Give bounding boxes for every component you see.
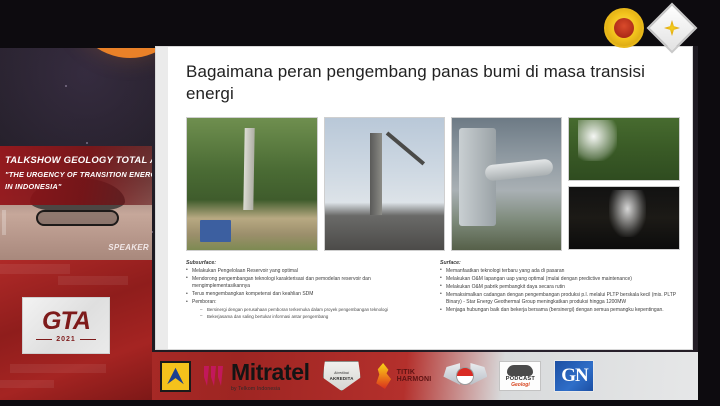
gta-logo-word: GTA [42, 309, 90, 334]
list-item: Memanfaatkan teknologi terbaru yang ada … [440, 268, 680, 276]
mitratel-sublabel: by Telkom Indonesia [231, 387, 310, 392]
photo-drilling-rig-with-crane [324, 117, 445, 251]
photo-steam-venting-daylight [568, 117, 680, 181]
list-item-label: Pemboran: [192, 299, 216, 305]
photo-stack-steam [568, 117, 680, 251]
speaker-glasses [36, 210, 118, 226]
gta-event-logo: GTA 2021 [22, 297, 110, 354]
subsurface-bullet-list: Melakukan Pengelolaan Reservoir yang opt… [186, 268, 426, 321]
list-item: Bekerjasama dan saling bertukar informas… [200, 314, 426, 321]
gold-circular-institution-emblem [604, 8, 644, 48]
flame-icon [374, 363, 393, 389]
photo-drilling-rig-in-jungle [186, 117, 318, 251]
webinar-screen: Bagaimana peran pengembang panas bumi di… [0, 0, 720, 406]
video-side-accent [2, 210, 6, 235]
slide-bullet-columns: Subsurface: Melakukan Pengelolaan Reserv… [186, 260, 680, 322]
podcast-logo: PODCAST Geologi [499, 361, 541, 391]
column-subsurface: Subsurface: Melakukan Pengelolaan Reserv… [186, 260, 426, 322]
slide-left-rail [156, 47, 168, 349]
slide-photo-strip [186, 117, 680, 251]
list-item: Melakukan O&M lapangan uap yang optimal … [440, 276, 680, 284]
podcast-line2: Geologi [511, 382, 530, 388]
titik-harmoni-logo: TITIK HARMONI [374, 363, 432, 389]
bottom-dark-band [0, 400, 720, 406]
speaker-video-tile[interactable]: TALKSHOW GEOLOGY TOTAL ACTION 20 "THE UR… [0, 146, 152, 260]
shield-bottom-text: AKREDITA [330, 376, 354, 381]
mitratel-name: Mitratel [231, 361, 310, 384]
organization-emblems [604, 8, 690, 48]
surface-heading: Surface: [440, 260, 680, 266]
list-item: Menjaga hubungan baik dan bekerja bersam… [440, 307, 680, 315]
photo-steam-venting-night [568, 186, 680, 250]
list-item: Pemboran: Bersinergi dengan perusahaan p… [186, 299, 426, 320]
list-item: Mendorong pengembangan teknologi karakte… [186, 276, 426, 291]
cloud-icon [507, 365, 533, 376]
shield-top-text: Akreditasi [334, 371, 349, 375]
white-diamond-compass-emblem [647, 3, 698, 54]
surface-bullet-list: Memanfaatkan teknologi terbaru yang ada … [440, 268, 680, 315]
gta-logo-year: 2021 [56, 336, 76, 343]
akreditasi-shield-logo: Akreditasi AKREDITA [323, 361, 361, 391]
presentation-slide[interactable]: Bagaimana peran pengembang panas bumi di… [155, 46, 693, 350]
list-item: Melakukan Pengelolaan Reservoir yang opt… [186, 268, 426, 276]
list-item: Terus mengembangkan kompetensi dan keahl… [186, 291, 426, 299]
list-item: Melakukan O&M pabrik pembangkit daya sec… [440, 284, 680, 292]
list-item: Bersinergi dengan perusahaan pemboran te… [200, 307, 426, 314]
brand-zone: GTA 2021 [0, 258, 152, 400]
mitratel-mark-icon [204, 366, 226, 386]
titik-harmoni-line1: TITIK [397, 369, 432, 376]
event-title-line2: "THE URGENCY OF TRANSITION ENERGY [5, 170, 152, 179]
right-dark-band [698, 0, 720, 406]
speaker-role-badge: SPEAKER [108, 243, 149, 252]
slide-title: Bagaimana peran pengembang panas bumi di… [186, 61, 680, 105]
subsurface-sublist: Bersinergi dengan perusahaan pemboran te… [200, 307, 426, 320]
garuda-wing-logo [444, 359, 486, 393]
titik-harmoni-line2: HARMONI [397, 376, 432, 383]
gn-media-logo: GN [554, 360, 594, 392]
column-surface: Surface: Memanfaatkan teknologi terbaru … [440, 260, 680, 322]
gta-logo-year-row: 2021 [36, 336, 96, 343]
list-item: Memaksimalkan cadangan dengan pengembang… [440, 292, 680, 307]
pama-logo [160, 361, 191, 392]
mitratel-logo: Mitratel by Telkom Indonesia [204, 361, 310, 392]
event-title-line3: IN INDONESIA" [5, 182, 62, 191]
subsurface-heading: Subsurface: [186, 260, 426, 266]
photo-geothermal-plant-piping [451, 117, 562, 251]
gn-logo-text: GN [561, 365, 588, 387]
event-title-line1: TALKSHOW GEOLOGY TOTAL ACTION 20 [5, 155, 152, 166]
